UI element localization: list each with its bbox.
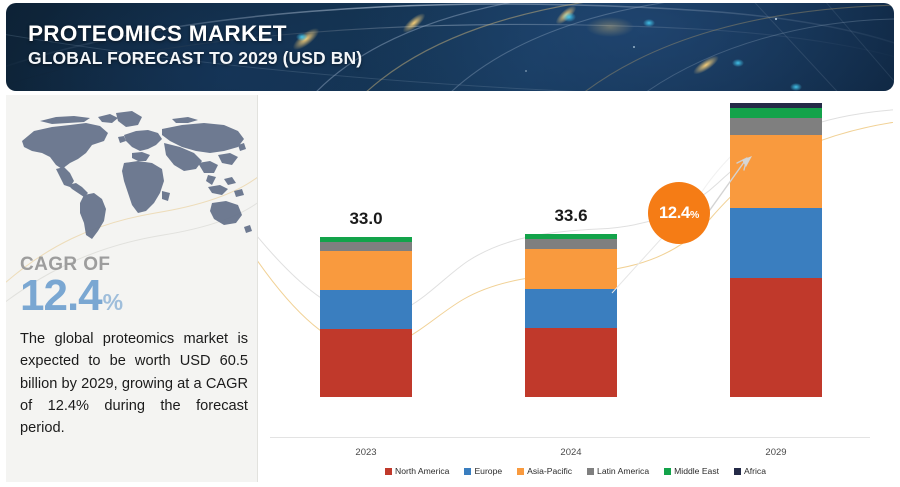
bar-total-label-2024: 33.6 [525, 206, 617, 226]
x-tick-label-2029: 2029 [730, 447, 822, 458]
chart-legend: North AmericaEuropeAsia-PacificLatin Ame… [258, 466, 893, 476]
legend-item-africa[interactable]: Africa [734, 466, 766, 476]
legend-item-latin-america[interactable]: Latin America [587, 466, 649, 476]
bar-segment-middle-east-2029[interactable] [730, 108, 822, 118]
legend-item-asia-pacific[interactable]: Asia-Pacific [517, 466, 572, 476]
bar-segment-north-america-2029[interactable] [730, 278, 822, 397]
world-map-icon [12, 107, 252, 247]
content-area: CAGR OF 12.4 % The global proteomics mar… [6, 95, 894, 482]
legend-swatch-icon [385, 468, 392, 475]
legend-item-europe[interactable]: Europe [464, 466, 502, 476]
cagr-badge[interactable]: 12.4% [648, 182, 710, 244]
bar-stack-2029[interactable] [730, 103, 822, 397]
plot-area: 33.0 33.6 60.5 2023 2024 2029 [258, 95, 893, 442]
legend-swatch-icon [464, 468, 471, 475]
legend-item-north-america[interactable]: North America [385, 466, 449, 476]
bar-stack-2023[interactable] [320, 237, 412, 397]
bar-segment-europe-2023[interactable] [320, 290, 412, 329]
summary-paragraph: The global proteomics market is expected… [20, 328, 248, 440]
page-title: PROTEOMICS MARKET [28, 21, 362, 46]
legend-swatch-icon [734, 468, 741, 475]
bar-stack-2024[interactable] [525, 234, 617, 397]
cagr-percent-symbol: % [103, 289, 123, 316]
legend-item-middle-east[interactable]: Middle East [664, 466, 719, 476]
x-tick-label-2024: 2024 [525, 447, 617, 458]
bar-segment-latin-america-2029[interactable] [730, 118, 822, 135]
bar-segment-latin-america-2024[interactable] [525, 239, 617, 249]
legend-swatch-icon [517, 468, 524, 475]
header-banner: PROTEOMICS MARKET GLOBAL FORECAST TO 202… [6, 3, 894, 91]
page-subtitle: GLOBAL FORECAST TO 2029 (USD BN) [28, 48, 362, 69]
bar-total-label-2023: 33.0 [320, 209, 412, 229]
bar-segment-europe-2024[interactable] [525, 289, 617, 329]
bar-group-2023[interactable]: 33.0 [320, 237, 412, 397]
header-text-block: PROTEOMICS MARKET GLOBAL FORECAST TO 202… [28, 21, 362, 69]
bar-segment-asia-pacific-2024[interactable] [525, 249, 617, 289]
chart-panel: 33.0 33.6 60.5 2023 2024 2029 North Amer… [258, 95, 893, 482]
legend-label: Latin America [597, 466, 649, 476]
bar-group-2029[interactable]: 60.5 [730, 103, 822, 397]
legend-swatch-icon [587, 468, 594, 475]
bar-segment-north-america-2023[interactable] [320, 329, 412, 397]
bar-segment-europe-2029[interactable] [730, 208, 822, 278]
legend-label: Europe [474, 466, 502, 476]
legend-label: Middle East [674, 466, 719, 476]
cagr-highlight: CAGR OF 12.4 % [20, 255, 123, 319]
bar-segment-asia-pacific-2023[interactable] [320, 251, 412, 290]
cagr-badge-label: 12.4% [659, 204, 699, 223]
cagr-value-row: 12.4 % [20, 273, 123, 319]
infographic-card: PROTEOMICS MARKET GLOBAL FORECAST TO 202… [0, 0, 900, 487]
bar-segment-asia-pacific-2029[interactable] [730, 135, 822, 208]
x-tick-label-2023: 2023 [320, 447, 412, 458]
bar-segment-latin-america-2023[interactable] [320, 242, 412, 252]
cagr-value: 12.4 [20, 273, 102, 319]
bar-segment-north-america-2024[interactable] [525, 328, 617, 397]
axis-baseline [270, 437, 870, 438]
legend-label: North America [395, 466, 449, 476]
legend-swatch-icon [664, 468, 671, 475]
sidebar-panel: CAGR OF 12.4 % The global proteomics mar… [6, 95, 258, 482]
legend-label: Africa [744, 466, 766, 476]
legend-label: Asia-Pacific [527, 466, 572, 476]
bar-group-2024[interactable]: 33.6 [525, 234, 617, 397]
